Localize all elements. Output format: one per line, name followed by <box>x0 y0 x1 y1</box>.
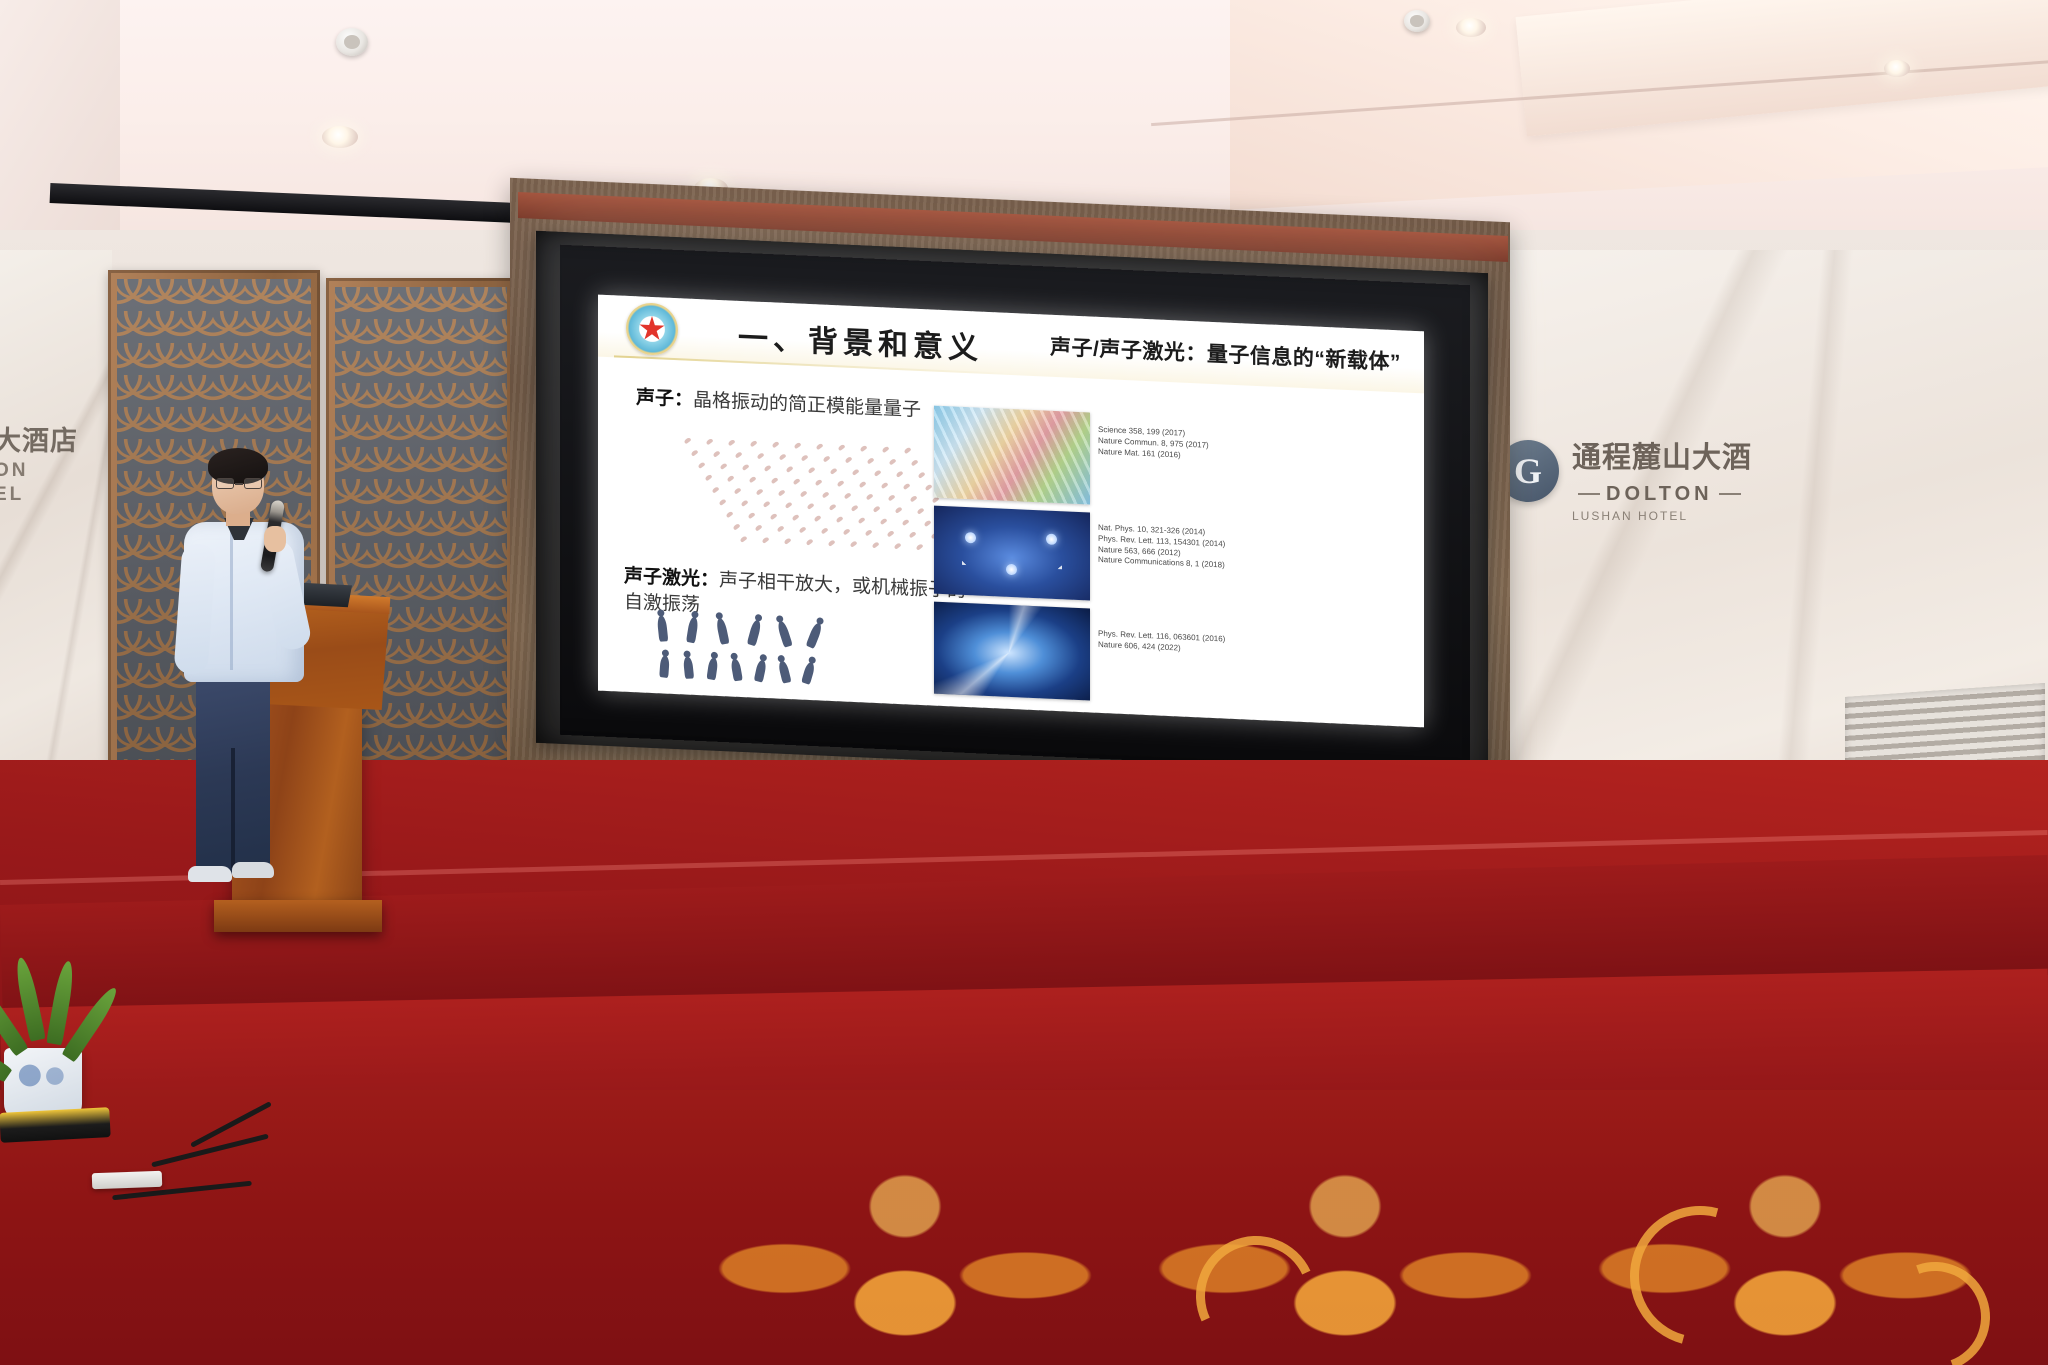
lattice-dot <box>772 441 780 448</box>
red-star-icon <box>639 315 665 342</box>
lattice-dot <box>785 501 793 508</box>
lattice-dot <box>749 476 757 483</box>
lattice-vibration-diagram <box>684 438 964 560</box>
lattice-dot <box>828 539 836 546</box>
lattice-dot <box>792 514 800 521</box>
hotel-branding-right-cn: 通程麓山大酒 <box>1572 440 1872 478</box>
hotel-branding-left-cn: 大酒店 <box>0 425 106 459</box>
dancer-figure <box>747 619 762 647</box>
lattice-dot <box>859 481 867 488</box>
lattice-dot <box>896 470 904 477</box>
lattice-dot <box>838 444 846 451</box>
lattice-dot <box>734 487 742 494</box>
dancer-figure <box>754 659 767 683</box>
lattice-dot <box>807 502 815 509</box>
lattice-dot <box>742 464 750 471</box>
lattice-dot <box>740 535 748 542</box>
lattice-dot <box>814 515 822 522</box>
power-strip <box>92 1171 163 1189</box>
phonon-crystal-photo <box>934 406 1090 505</box>
lattice-dot <box>728 439 736 446</box>
lattice-dot <box>727 475 735 482</box>
lattice-dot <box>748 512 756 519</box>
lattice-dot <box>757 452 765 459</box>
dancer-figure <box>777 660 791 683</box>
lattice-dot <box>887 530 895 537</box>
speaker-shoe-right <box>232 862 274 878</box>
lattice-dot <box>691 449 699 456</box>
slide-bullet-1-text: 晶格振动的简正模能量量子 <box>693 390 921 421</box>
cable-floor-ramp <box>0 1107 111 1143</box>
dancer-figures-diagram <box>658 615 878 697</box>
lattice-dot <box>873 505 881 512</box>
smoke-detector-2 <box>1404 10 1430 32</box>
lattice-dot <box>756 488 764 495</box>
lattice-dot <box>904 447 912 454</box>
lattice-dot <box>698 462 706 469</box>
hotel-branding-left: 大酒店 ON EL <box>0 425 106 506</box>
lattice-dot <box>903 483 911 490</box>
lattice-dot <box>808 466 816 473</box>
lattice-dot <box>837 480 845 487</box>
dancer-figure <box>686 616 699 643</box>
speaker-person <box>168 448 318 908</box>
lattice-dot <box>684 437 692 444</box>
lattice-dot <box>755 524 763 531</box>
lattice-dot <box>706 438 714 445</box>
hotel-branding-left-en2: EL <box>0 483 106 507</box>
lattice-dot <box>924 520 932 527</box>
lattice-dot <box>713 450 721 457</box>
dancer-figure <box>715 618 729 645</box>
slide-bullet-1-label: 声子： <box>636 387 693 411</box>
lattice-dot <box>786 465 794 472</box>
lattice-dot <box>778 489 786 496</box>
hotel-branding-left-en: ON <box>0 459 106 483</box>
lattice-dot <box>794 442 802 449</box>
lattice-dot <box>726 511 734 518</box>
lattice-dot <box>845 456 853 463</box>
ceiling-left-edge <box>0 0 120 250</box>
lattice-dot <box>909 531 917 538</box>
lattice-dot <box>712 486 720 493</box>
speaker-shoe-left <box>188 866 232 882</box>
lattice-dot <box>829 503 837 510</box>
lattice-dot <box>784 537 792 544</box>
lattice-dot <box>852 468 860 475</box>
lattice-dot <box>771 477 779 484</box>
lattice-dot <box>916 543 924 550</box>
lattice-dot <box>705 474 713 481</box>
lattice-dot <box>882 446 890 453</box>
lattice-dot <box>800 490 808 497</box>
dancer-figure <box>657 615 669 642</box>
lattice-dot <box>858 517 866 524</box>
lattice-dot <box>881 482 889 489</box>
lattice-dot <box>895 506 903 513</box>
lattice-dot <box>720 463 728 470</box>
lattice-dot <box>925 484 933 491</box>
lattice-dot <box>836 516 844 523</box>
dancer-figure <box>730 658 743 681</box>
dancer-figure <box>806 622 824 649</box>
slide-bullet-1: 声子：晶格振动的简正模能量量子 <box>636 382 921 422</box>
lattice-dot <box>762 536 770 543</box>
carpet-motif-2 <box>1130 1165 1560 1365</box>
lattice-dot <box>799 526 807 533</box>
slide-bullet-2-label: 声子激光： <box>624 566 719 591</box>
lattice-dot <box>867 457 875 464</box>
lattice-dot <box>917 507 925 514</box>
lattice-dot <box>770 513 778 520</box>
lattice-dot <box>910 495 918 502</box>
lattice-dot <box>763 500 771 507</box>
lattice-dot <box>865 529 873 536</box>
downlight-1 <box>322 126 358 148</box>
lattice-dot <box>918 471 926 478</box>
lattice-dot <box>894 542 902 549</box>
carpet-motif-1 <box>690 1165 1120 1365</box>
downlight-6 <box>1456 18 1486 37</box>
conference-hall-scene: 大酒店 ON EL 通程麓山大酒 DOLTON LUSHAN HOTEL 一、背… <box>0 0 2048 1365</box>
eyeglasses-icon <box>216 478 262 489</box>
lattice-dot <box>822 491 830 498</box>
lattice-dot <box>815 479 823 486</box>
lattice-dot <box>779 453 787 460</box>
lattice-dot <box>843 528 851 535</box>
smoke-detector-1 <box>336 28 368 56</box>
citation-block-1: Science 358, 199 (2017)Nature Commun. 8,… <box>1098 425 1268 465</box>
lattice-dot <box>777 525 785 532</box>
lattice-dot <box>850 540 858 547</box>
citation-block-2: Nat. Phys. 10, 321-326 (2014)Phys. Rev. … <box>1098 523 1268 574</box>
lattice-dot <box>844 492 852 499</box>
lattice-dot <box>911 459 919 466</box>
lattice-dot <box>806 538 814 545</box>
dancer-figure <box>801 661 816 685</box>
downlight-7 <box>1884 60 1910 77</box>
lattice-dot <box>830 467 838 474</box>
lattice-dot <box>860 445 868 452</box>
lattice-dot <box>793 478 801 485</box>
lattice-dot <box>764 464 772 471</box>
lattice-dot <box>888 494 896 501</box>
speaker-leg-split <box>231 748 235 868</box>
dancer-figure <box>776 620 793 647</box>
lattice-dot <box>741 499 749 506</box>
lattice-dot <box>735 451 743 458</box>
lattice-dot <box>866 493 874 500</box>
speaker-shirt-placket <box>230 530 233 670</box>
lattice-dot <box>750 440 758 447</box>
speaker-hand <box>264 526 286 552</box>
lattice-dot <box>872 541 880 548</box>
lattice-dot <box>821 527 829 534</box>
hotel-branding-right: 通程麓山大酒 DOLTON LUSHAN HOTEL <box>1572 440 1872 524</box>
phonon-laser-beam-photo <box>934 602 1090 701</box>
lattice-dot <box>880 518 888 525</box>
trapped-ion-photo <box>934 506 1090 601</box>
led-display-screen[interactable]: 一、背景和意义 声子/声子激光：量子信息的“新载体” 声子：晶格振动的简正模能量… <box>598 295 1424 728</box>
lattice-dot <box>902 519 910 526</box>
presentation-slide: 一、背景和意义 声子/声子激光：量子信息的“新载体” 声子：晶格振动的简正模能量… <box>598 295 1424 728</box>
hotel-branding-right-en: DOLTON <box>1572 481 1872 507</box>
citation-block-3: Phys. Rev. Lett. 116, 063601 (2016)Natur… <box>1098 629 1268 658</box>
lattice-dot <box>733 523 741 530</box>
lattice-dot <box>874 469 882 476</box>
lattice-dot <box>801 454 809 461</box>
lattice-dot <box>816 443 824 450</box>
dancer-figure <box>659 655 670 678</box>
dancer-figure <box>707 657 719 680</box>
hotel-branding-right-sub: LUSHAN HOTEL <box>1572 509 1872 525</box>
lattice-dot <box>823 455 831 462</box>
dancer-figure <box>683 656 694 679</box>
lattice-dot <box>889 458 897 465</box>
lattice-dot <box>719 498 727 505</box>
lattice-dot <box>851 504 859 511</box>
